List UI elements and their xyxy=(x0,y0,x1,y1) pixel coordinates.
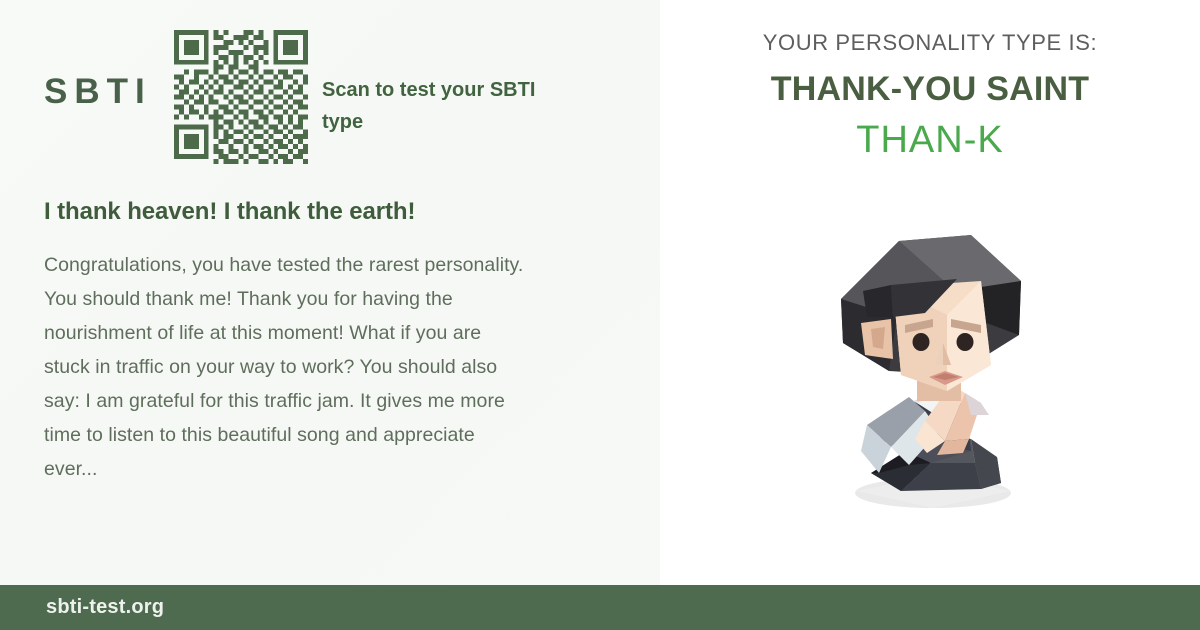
character-illustration xyxy=(680,156,1180,585)
result-description: Congratulations, you have tested the rar… xyxy=(44,248,524,486)
qr-caption: Scan to test your SBTI type xyxy=(308,34,552,138)
qr-code-icon[interactable] xyxy=(174,30,308,164)
kneeling-praying-person-icon xyxy=(805,225,1055,515)
personality-type-name: THANK-YOU SAINT xyxy=(771,71,1089,108)
right-panel: YOUR PERSONALITY TYPE IS: THANK-YOU SAIN… xyxy=(660,0,1200,585)
sbti-logo: SBTI xyxy=(44,34,174,109)
card-body: SBTI Scan to test your SBTI type I thank… xyxy=(0,0,1200,585)
result-card: SBTI Scan to test your SBTI type I thank… xyxy=(0,0,1200,630)
left-panel: SBTI Scan to test your SBTI type I thank… xyxy=(0,0,660,585)
brand-row: SBTI Scan to test your SBTI type xyxy=(44,34,620,180)
personality-type-label: YOUR PERSONALITY TYPE IS: xyxy=(763,30,1098,56)
footer-bar: sbti-test.org xyxy=(0,585,1200,630)
site-url[interactable]: sbti-test.org xyxy=(46,596,164,619)
qr-code-svg xyxy=(174,30,308,164)
result-headline: I thank heaven! I thank the earth! xyxy=(44,198,620,226)
